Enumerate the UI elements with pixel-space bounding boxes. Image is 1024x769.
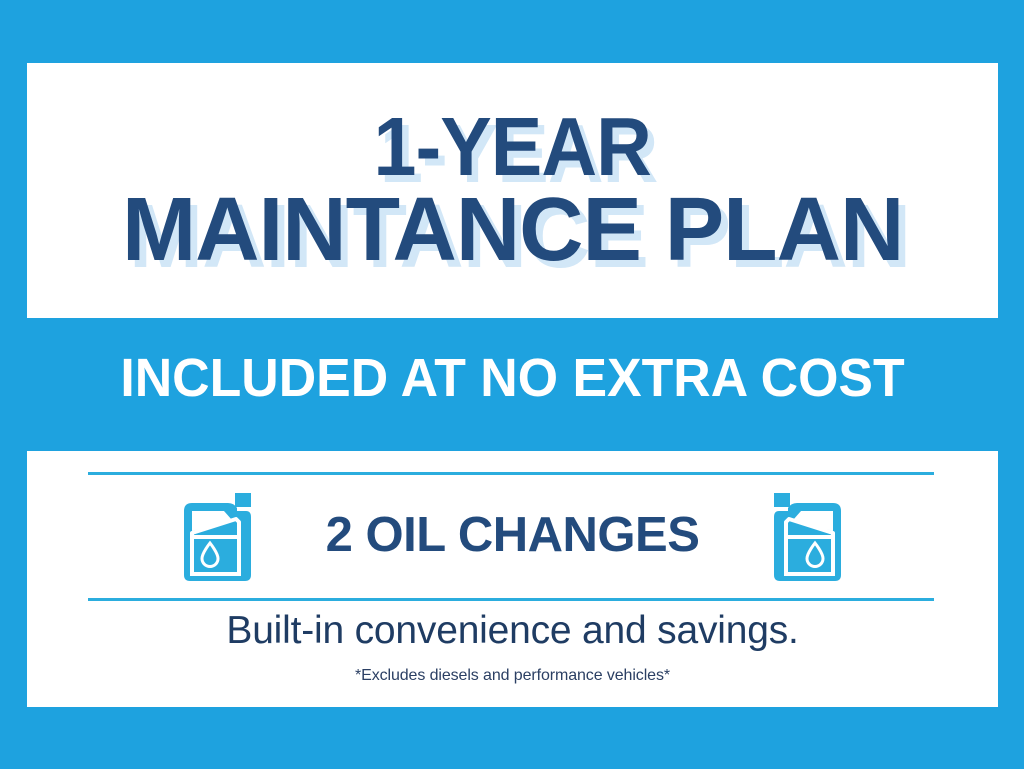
tagline: Built-in convenience and savings. xyxy=(27,609,998,653)
oil-jug-icon xyxy=(180,491,254,583)
feature-row: 2 OIL CHANGES xyxy=(27,475,998,598)
subheadline-text: INCLUDED AT NO EXTRA COST xyxy=(120,347,904,409)
promo-poster: 1-YEAR MAINTANCE PLAN INCLUDED AT NO EXT… xyxy=(0,0,1024,769)
divider-bottom xyxy=(88,598,934,601)
headline-line-2: MAINTANCE PLAN xyxy=(122,189,903,273)
feature-label: 2 OIL CHANGES xyxy=(326,507,700,567)
disclaimer: *Excludes diesels and performance vehicl… xyxy=(27,667,998,685)
detail-card: 2 OIL CHANGES Built-in convenience and s… xyxy=(27,451,998,707)
headline-card: 1-YEAR MAINTANCE PLAN xyxy=(27,63,998,318)
oil-jug-icon xyxy=(771,491,845,583)
headline-line-1: 1-YEAR xyxy=(374,108,652,185)
subheadline-band: INCLUDED AT NO EXTRA COST xyxy=(27,330,998,425)
